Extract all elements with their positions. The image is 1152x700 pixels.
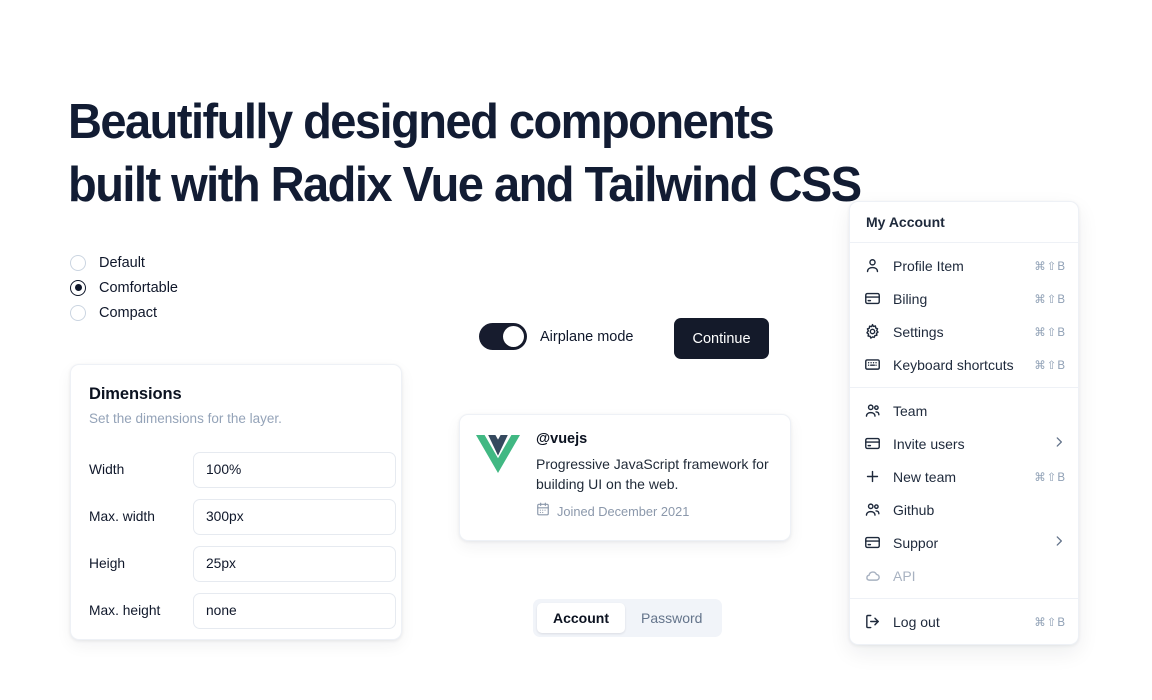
dimension-field-row: Width [89, 446, 383, 493]
dimension-field-input[interactable] [193, 593, 396, 629]
menu-item-log-out[interactable]: Log out⌘⇧B [850, 605, 1078, 638]
dimension-field-input[interactable] [193, 546, 396, 582]
dimension-field-row: Max. width [89, 493, 383, 540]
page-root: Beautifully designed components built wi… [0, 0, 1152, 700]
dimensions-card-subtitle: Set the dimensions for the layer. [89, 411, 383, 426]
menu-item-new-team[interactable]: New team⌘⇧B [850, 460, 1078, 493]
users-icon [864, 402, 881, 419]
menu-item-invite-users[interactable]: Invite users [850, 427, 1078, 460]
menu-item-label: Suppor [893, 535, 1052, 551]
menu-item-shortcut: ⌘⇧B [1034, 615, 1066, 629]
menu-item-settings[interactable]: Settings⌘⇧B [850, 315, 1078, 348]
cloud-icon [864, 567, 881, 584]
radio-option-compact[interactable]: Compact [70, 300, 300, 325]
logout-icon [864, 613, 881, 630]
radio-indicator[interactable] [70, 255, 86, 271]
page-title-line-1: Beautifully designed components [68, 91, 990, 154]
menu-item-label: Github [893, 502, 1066, 518]
users-icon [864, 501, 881, 518]
dimensions-card: Dimensions Set the dimensions for the la… [70, 364, 402, 640]
radio-indicator[interactable] [70, 280, 86, 296]
vue-logo-icon [476, 433, 520, 477]
account-dropdown-menu: My Account Profile Item⌘⇧BBiling⌘⇧BSetti… [849, 201, 1079, 645]
credit-card-icon [864, 435, 881, 452]
hover-card-joined-row: Joined December 2021 [536, 502, 776, 521]
switch-knob [503, 326, 524, 347]
menu-group: Profile Item⌘⇧BBiling⌘⇧BSettings⌘⇧BKeybo… [850, 243, 1078, 387]
menu-item-team[interactable]: Team [850, 394, 1078, 427]
dimension-field-input[interactable] [193, 499, 396, 535]
menu-item-keyboard-shortcuts[interactable]: Keyboard shortcuts⌘⇧B [850, 348, 1078, 381]
radio-indicator[interactable] [70, 305, 86, 321]
continue-button[interactable]: Continue [674, 318, 769, 359]
radio-option-comfortable[interactable]: Comfortable [70, 275, 300, 300]
hover-card-handle: @vuejs [536, 431, 776, 447]
chevron-right-icon [1052, 534, 1066, 551]
menu-item-label: Biling [893, 291, 1034, 307]
gear-icon [864, 323, 881, 340]
airplane-mode-label: Airplane mode [540, 329, 634, 345]
menu-item-label: New team [893, 469, 1034, 485]
menu-item-label: Keyboard shortcuts [893, 357, 1034, 373]
hover-card-description: Progressive JavaScript framework for bui… [536, 454, 776, 494]
menu-item-shortcut: ⌘⇧B [1034, 358, 1066, 372]
chevron-right-icon [1052, 435, 1066, 452]
menu-item-label: Settings [893, 324, 1034, 340]
menu-item-shortcut: ⌘⇧B [1034, 470, 1066, 484]
menu-item-biling[interactable]: Biling⌘⇧B [850, 282, 1078, 315]
dimension-field-label: Max. height [89, 603, 193, 618]
plus-icon [864, 468, 881, 485]
menu-item-shortcut: ⌘⇧B [1034, 325, 1066, 339]
menu-group-list: Profile Item⌘⇧BBiling⌘⇧BSettings⌘⇧BKeybo… [850, 243, 1078, 644]
menu-item-api: API [850, 559, 1078, 592]
menu-item-label: Profile Item [893, 258, 1034, 274]
vuejs-hover-card: @vuejs Progressive JavaScript framework … [459, 414, 791, 541]
credit-card-icon [864, 534, 881, 551]
menu-item-profile-item[interactable]: Profile Item⌘⇧B [850, 249, 1078, 282]
density-radio-group: DefaultComfortableCompact [70, 250, 300, 325]
airplane-mode-switch-row: Airplane mode [479, 323, 634, 350]
user-icon [864, 257, 881, 274]
menu-item-github[interactable]: Github [850, 493, 1078, 526]
menu-header: My Account [850, 202, 1078, 242]
dimensions-card-title: Dimensions [89, 385, 383, 404]
page-title: Beautifully designed components built wi… [68, 91, 990, 217]
credit-card-icon [864, 290, 881, 307]
menu-group: Log out⌘⇧B [850, 599, 1078, 644]
menu-item-label: API [893, 568, 1066, 584]
tab-account[interactable]: Account [537, 603, 625, 633]
dimension-field-input[interactable] [193, 452, 396, 488]
calendar-icon [536, 502, 550, 521]
tab-password[interactable]: Password [625, 603, 718, 633]
menu-group: TeamInvite usersNew team⌘⇧BGithubSupporA… [850, 388, 1078, 598]
dimension-field-label: Width [89, 462, 193, 477]
dimension-field-label: Heigh [89, 556, 193, 571]
radio-option-label: Compact [99, 305, 157, 321]
menu-item-shortcut: ⌘⇧B [1034, 292, 1066, 306]
menu-item-shortcut: ⌘⇧B [1034, 259, 1066, 273]
radio-option-default[interactable]: Default [70, 250, 300, 275]
dimension-field-row: Heigh [89, 540, 383, 587]
keyboard-icon [864, 356, 881, 373]
airplane-mode-switch[interactable] [479, 323, 527, 350]
hover-card-body: @vuejs Progressive JavaScript framework … [536, 431, 776, 524]
settings-tabs: AccountPassword [533, 599, 722, 637]
menu-item-label: Team [893, 403, 1066, 419]
dimension-field-row: Max. height [89, 587, 383, 634]
menu-item-suppor[interactable]: Suppor [850, 526, 1078, 559]
radio-option-label: Comfortable [99, 280, 178, 296]
dimension-field-label: Max. width [89, 509, 193, 524]
menu-item-label: Log out [893, 614, 1034, 630]
dimensions-field-list: WidthMax. widthHeighMax. height [89, 446, 383, 634]
radio-option-label: Default [99, 255, 145, 271]
hover-card-joined-text: Joined December 2021 [557, 504, 689, 519]
menu-item-label: Invite users [893, 436, 1052, 452]
